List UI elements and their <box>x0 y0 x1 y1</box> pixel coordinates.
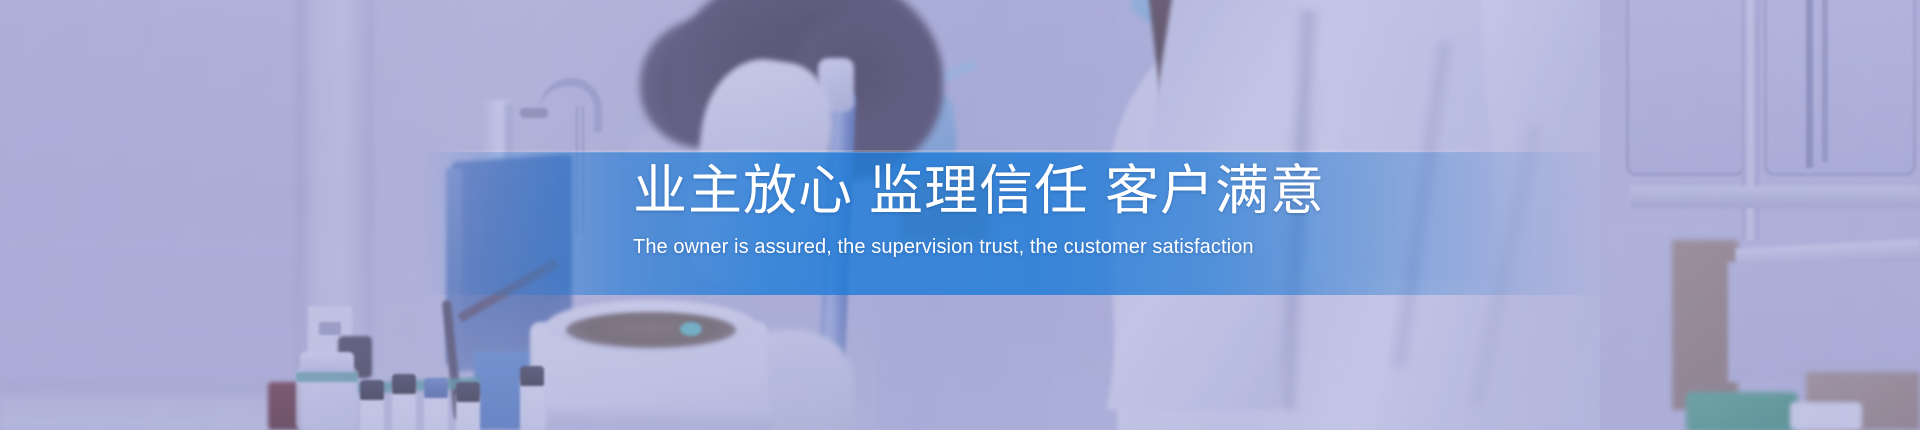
centrifuge-sample <box>680 322 702 336</box>
banner-subheadline: The owner is assured, the supervision tr… <box>633 222 1633 260</box>
sample-vial-cap <box>520 366 544 386</box>
window-pane-right <box>1764 0 1916 176</box>
sample-vial-cap <box>424 378 448 398</box>
centrifuge-bowl <box>566 312 736 348</box>
hero-banner: 业主放心 监理信任 客户满意 The owner is assured, the… <box>0 0 1920 430</box>
green-supply-item <box>1686 392 1798 430</box>
banner-text-block: 业主放心 监理信任 客户满意 The owner is assured, the… <box>633 150 1633 260</box>
sample-vial-cap <box>360 380 384 400</box>
lab-faucet-stem <box>576 105 584 235</box>
lab-wall-left <box>0 0 330 430</box>
sample-vial-cap <box>456 382 480 402</box>
white-supply-item <box>1790 402 1862 430</box>
lab-counter-front <box>1728 262 1920 382</box>
water-bottle-cap <box>300 352 354 374</box>
lab-faucet-arc <box>540 78 602 132</box>
power-outlet-socket <box>319 322 341 335</box>
sample-vial-cap <box>392 374 416 394</box>
window-rod-2 <box>1822 0 1828 162</box>
window-sill <box>1630 186 1920 208</box>
banner-headline: 业主放心 监理信任 客户满意 <box>633 150 1633 222</box>
window-pane-left <box>1626 0 1746 176</box>
centrifuge-base <box>546 408 772 430</box>
window-rod <box>1806 0 1813 168</box>
water-bottle-ring <box>296 372 358 382</box>
